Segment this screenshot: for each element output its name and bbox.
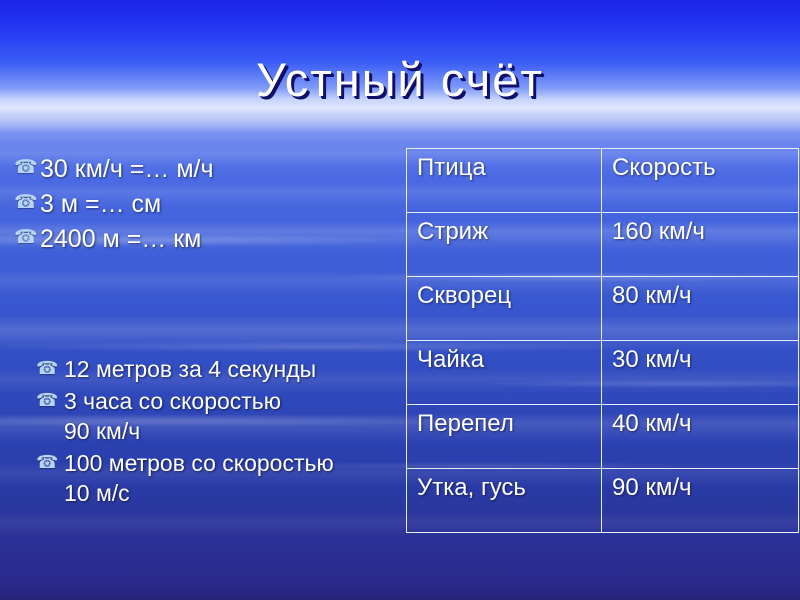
bullet-list-conversions: ☎ 30 км/ч =… м/ч ☎ 3 м =… см ☎ 2400 м =…… bbox=[14, 153, 394, 258]
list-item-label: 3 м =… см bbox=[40, 188, 161, 220]
page-title: Устный счёт bbox=[0, 52, 800, 107]
list-item: ☎ 3 м =… см bbox=[14, 188, 394, 220]
table-cell-bird: Скворец bbox=[407, 277, 602, 341]
bullet-list-problems: ☎ 12 метров за 4 секунды ☎ 3 часа со ско… bbox=[36, 355, 406, 511]
telephone-icon: ☎ bbox=[14, 223, 40, 247]
list-item-label: 2400 м =… км bbox=[40, 223, 201, 255]
table-cell-speed: 30 км/ч bbox=[602, 341, 799, 405]
table-cell-speed: 80 км/ч bbox=[602, 277, 799, 341]
bird-speed-table: Птица Скорость Стриж 160 км/ч Скворец 80… bbox=[406, 148, 799, 533]
list-item: ☎ 100 метров со скоростью 10 м/с bbox=[36, 449, 406, 508]
telephone-icon: ☎ bbox=[36, 355, 64, 377]
list-item-label: 100 метров со скоростью 10 м/с bbox=[64, 449, 334, 508]
table-header-row: Птица Скорость bbox=[407, 149, 799, 213]
list-item-label: 12 метров за 4 секунды bbox=[64, 355, 316, 384]
table-cell-speed: 90 км/ч bbox=[602, 469, 799, 533]
telephone-icon: ☎ bbox=[14, 188, 40, 212]
table-row: Скворец 80 км/ч bbox=[407, 277, 799, 341]
table-row: Чайка 30 км/ч bbox=[407, 341, 799, 405]
table-cell-speed: 40 км/ч bbox=[602, 405, 799, 469]
list-item: ☎ 2400 м =… км bbox=[14, 223, 394, 255]
table-header-bird: Птица bbox=[407, 149, 602, 213]
table-row: Стриж 160 км/ч bbox=[407, 213, 799, 277]
list-item: ☎ 3 часа со скоростью 90 км/ч bbox=[36, 387, 406, 446]
table-cell-bird: Перепел bbox=[407, 405, 602, 469]
telephone-icon: ☎ bbox=[36, 449, 64, 471]
table-cell-speed: 160 км/ч bbox=[602, 213, 799, 277]
table-cell-bird: Чайка bbox=[407, 341, 602, 405]
table-cell-bird: Стриж bbox=[407, 213, 602, 277]
table-row: Перепел 40 км/ч bbox=[407, 405, 799, 469]
list-item: ☎ 12 метров за 4 секунды bbox=[36, 355, 406, 384]
slide-canvas: Устный счёт ☎ 30 км/ч =… м/ч ☎ 3 м =… см… bbox=[0, 0, 800, 600]
telephone-icon: ☎ bbox=[36, 387, 64, 409]
table-row: Утка, гусь 90 км/ч bbox=[407, 469, 799, 533]
list-item-label: 3 часа со скоростью 90 км/ч bbox=[64, 387, 281, 446]
list-item-label: 30 км/ч =… м/ч bbox=[40, 153, 214, 185]
table-header-speed: Скорость bbox=[602, 149, 799, 213]
list-item: ☎ 30 км/ч =… м/ч bbox=[14, 153, 394, 185]
telephone-icon: ☎ bbox=[14, 153, 40, 177]
table-cell-bird: Утка, гусь bbox=[407, 469, 602, 533]
